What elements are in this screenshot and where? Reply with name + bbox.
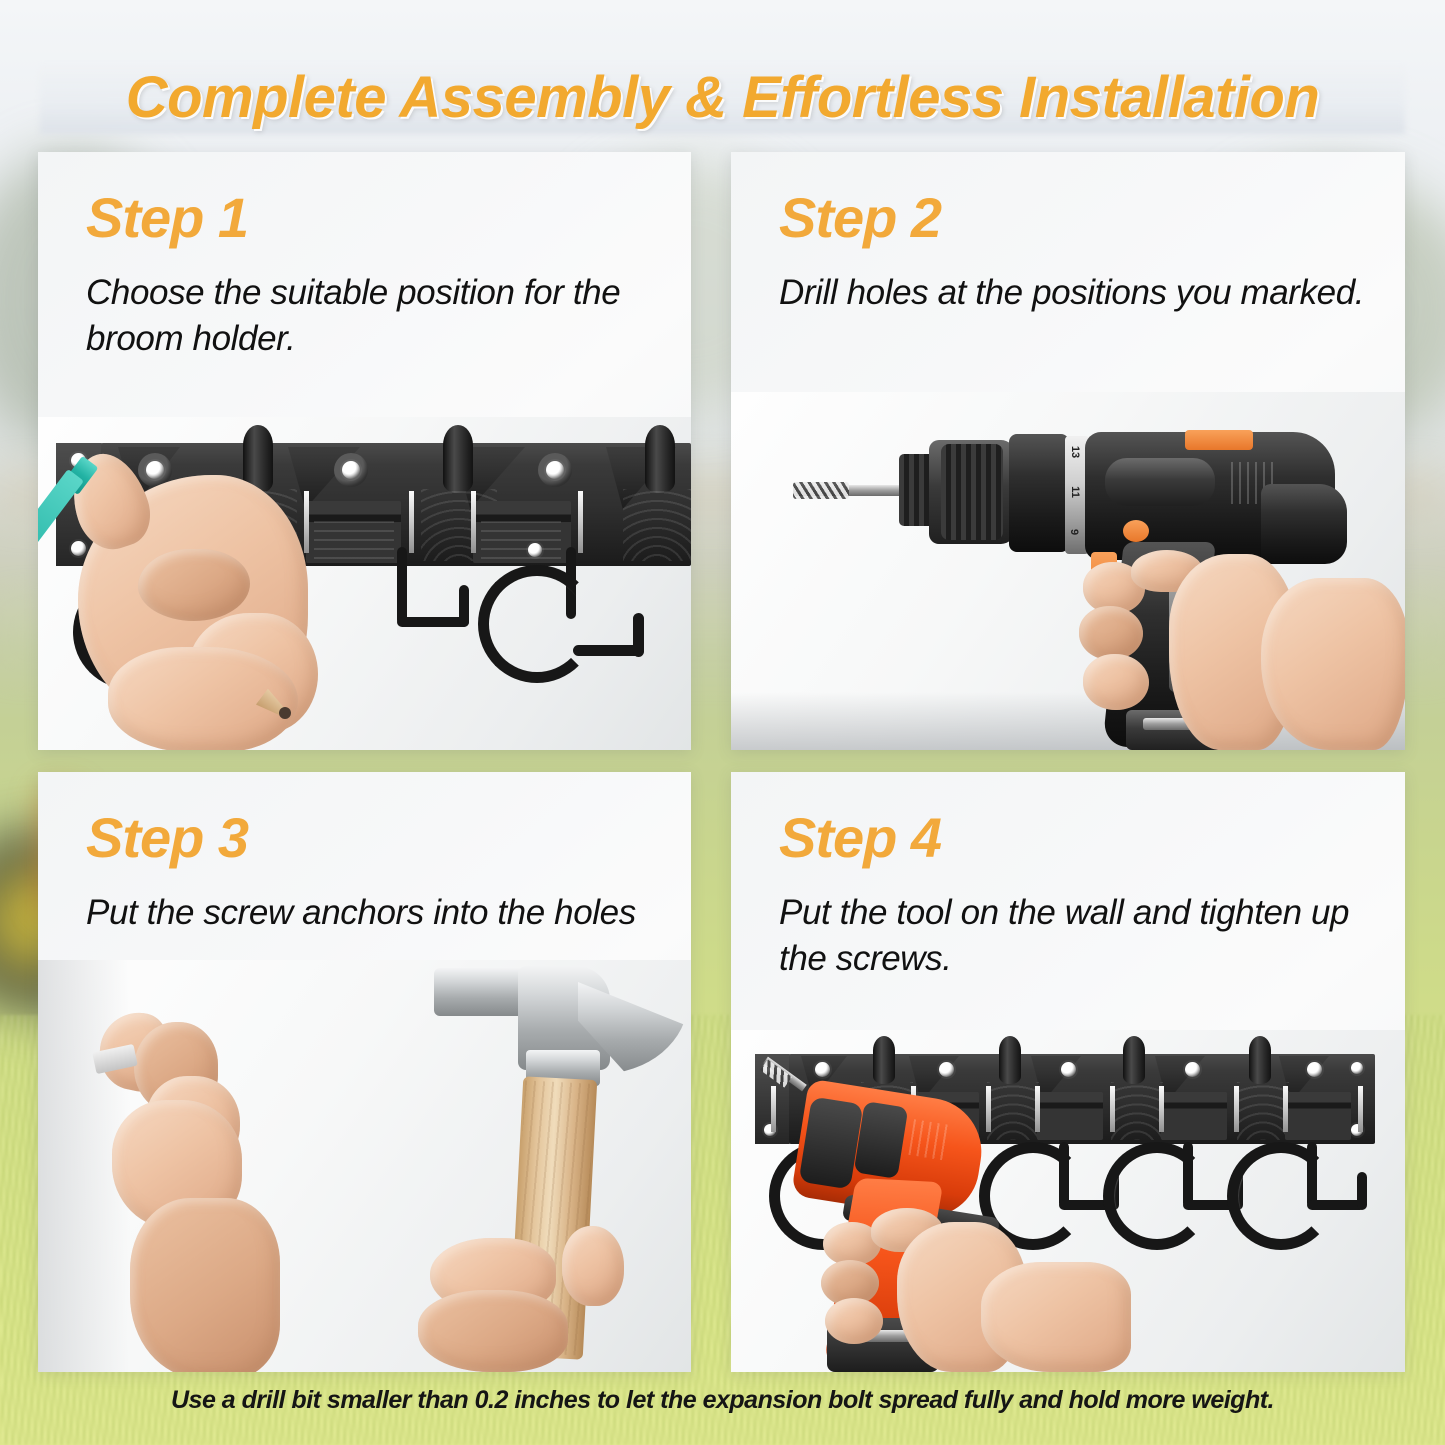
- clutch-number-13: 13: [1069, 446, 1081, 458]
- step-3-illustration: [38, 960, 691, 1372]
- hook-stem: [397, 547, 407, 625]
- page-title: Complete Assembly & Effortless Installat…: [126, 58, 1320, 138]
- grip-thumb: [562, 1226, 624, 1306]
- infographic-root: Complete Assembly & Effortless Installat…: [0, 0, 1445, 1445]
- wrist: [1261, 578, 1405, 750]
- s-hook-stem: [1307, 1142, 1317, 1208]
- rail-screw-hole: [1307, 1062, 1322, 1077]
- step-2-illustration: 13 11 9: [731, 392, 1405, 750]
- rail-peg: [999, 1036, 1021, 1084]
- pencil-lead: [279, 707, 291, 719]
- step-panel-2: Step 2 Drill holes at the positions you …: [731, 152, 1405, 750]
- chrome-bracket: [1159, 1086, 1239, 1132]
- rail-screw-hole: [71, 541, 86, 556]
- chrome-bracket: [1035, 1086, 1115, 1132]
- clutch-number-9: 9: [1068, 529, 1080, 535]
- rail-screw-hole: [1351, 1062, 1363, 1074]
- step-panel-4: Step 4 Put the tool on the wall and tigh…: [731, 772, 1405, 1372]
- rail-fan-texture: [1111, 1082, 1163, 1140]
- wrist: [981, 1262, 1131, 1372]
- drill-rear-cap: [1261, 484, 1347, 564]
- rail-screw-hole: [146, 461, 164, 479]
- rail-screw-hole: [546, 461, 564, 479]
- s-hook-stem: [1183, 1142, 1193, 1208]
- thumb: [138, 549, 250, 621]
- step-4-description: Put the tool on the wall and tighten up …: [779, 890, 1383, 982]
- clutch-number-11: 11: [1069, 486, 1081, 498]
- step-panel-3: Step 3 Put the screw anchors into the ho…: [38, 772, 691, 1372]
- footer-note: Use a drill bit smaller than 0.2 inches …: [0, 1386, 1445, 1415]
- drill-gearbox: [1009, 434, 1069, 552]
- drill-vents: [908, 1119, 951, 1161]
- s-hook-curve: [1103, 1142, 1211, 1250]
- rail-peg: [873, 1036, 895, 1084]
- finger-middle: [1079, 606, 1143, 660]
- s-hook-arm-up: [1357, 1172, 1367, 1210]
- step-2-description: Drill holes at the positions you marked.: [779, 270, 1383, 316]
- chrome-bracket: [304, 491, 414, 553]
- step-2-title: Step 2: [779, 190, 941, 246]
- rail-screw-hole: [1185, 1062, 1200, 1077]
- step-4-illustration: [731, 1030, 1405, 1372]
- rail-screw-hole: [939, 1062, 954, 1077]
- rail-screw-hole: [1061, 1062, 1076, 1077]
- rail-peg: [1123, 1036, 1145, 1084]
- drill-chuck-grip: [941, 444, 1003, 540]
- rail-peg: [645, 425, 675, 493]
- rail-fan-texture: [987, 1082, 1039, 1140]
- drill-body-panel: [1105, 458, 1215, 506]
- rail-peg: [1249, 1036, 1271, 1084]
- step-4-title: Step 4: [779, 810, 941, 866]
- step-1-description: Choose the suitable position for the bro…: [86, 270, 669, 362]
- headline-banner: Complete Assembly & Effortless Installat…: [0, 58, 1445, 138]
- drill-bit-flute: [793, 482, 849, 499]
- step-3-description: Put the screw anchors into the holes: [86, 890, 669, 936]
- rail-fan-texture: [623, 489, 691, 561]
- hook-arm-up: [633, 613, 644, 657]
- step-1-title: Step 1: [86, 190, 248, 246]
- s-hook-curve: [1227, 1142, 1335, 1250]
- rail-fan-texture: [1237, 1082, 1289, 1140]
- grip-palm: [418, 1290, 568, 1372]
- hook-arm-up: [459, 585, 469, 627]
- step-3-title: Step 3: [86, 810, 248, 866]
- chrome-bracket: [1283, 1086, 1363, 1132]
- hook-curve: [478, 565, 596, 683]
- drill-direction-button: [1123, 520, 1149, 542]
- rail-screw-hole: [815, 1062, 830, 1077]
- s-hook-stem: [1059, 1142, 1069, 1208]
- chrome-bracket: [471, 491, 583, 553]
- rail-peg: [443, 425, 473, 493]
- finger-ring: [1083, 654, 1149, 710]
- step-1-illustration: [38, 417, 691, 750]
- forearm: [130, 1198, 280, 1372]
- step-panel-1: Step 1 Choose the suitable position for …: [38, 152, 691, 750]
- drill-top-orange-strip: [1185, 430, 1253, 450]
- rail-screw-hole: [342, 461, 360, 479]
- finger-ring: [825, 1298, 883, 1344]
